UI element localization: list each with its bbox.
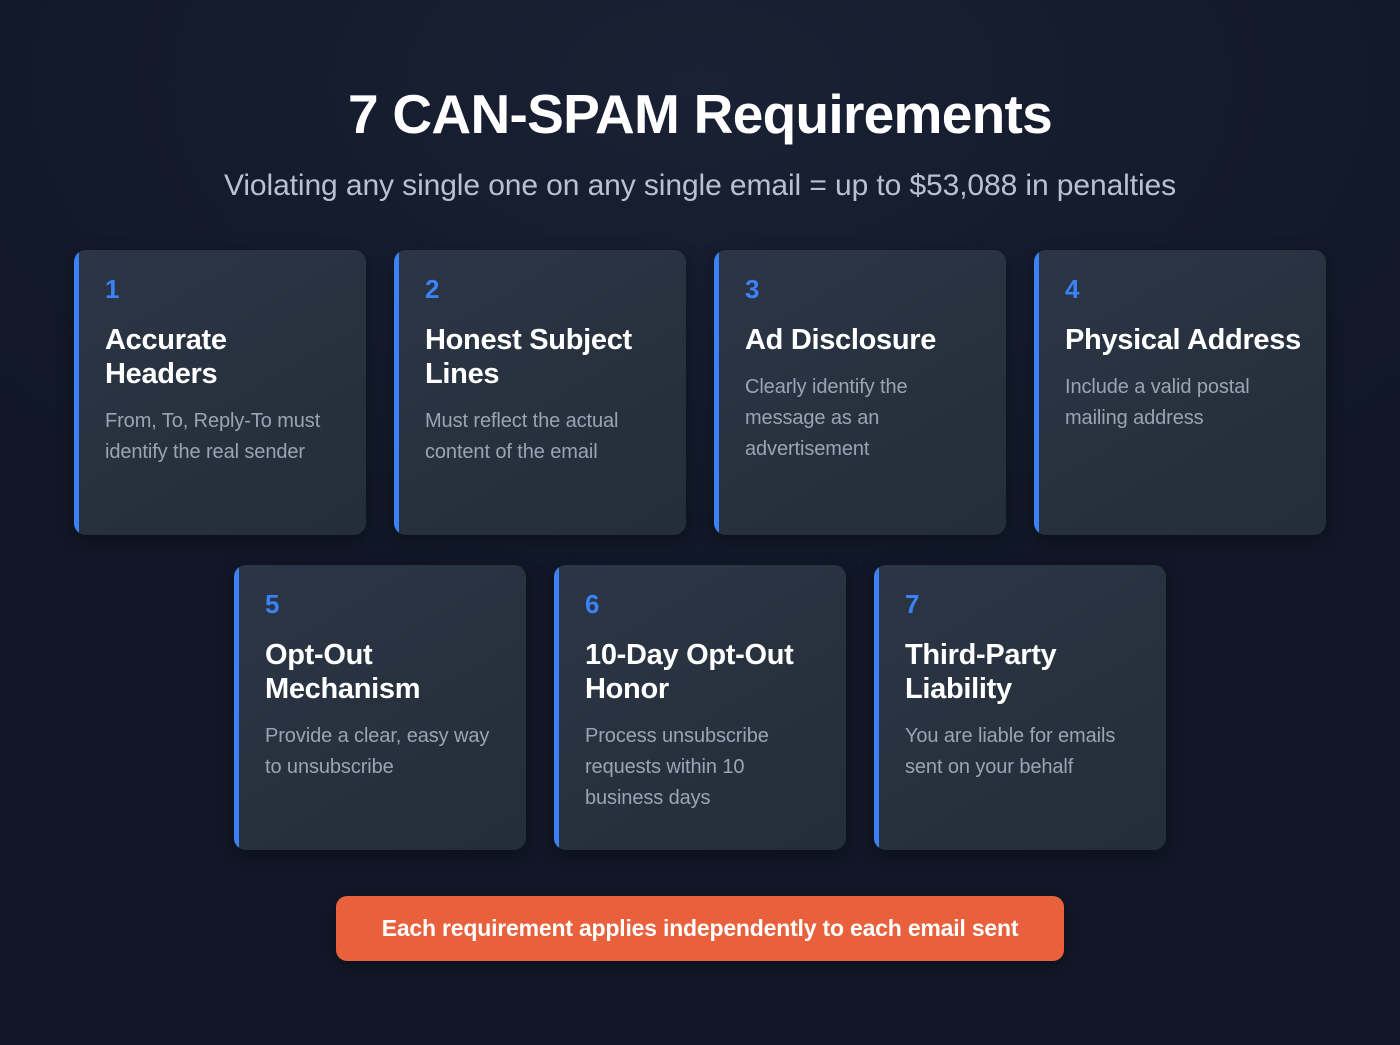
page-subtitle: Violating any single one on any single e… — [0, 168, 1400, 204]
requirement-description: Provide a clear, easy way to unsubscribe — [265, 721, 502, 783]
requirement-number: 4 — [1065, 276, 1302, 302]
requirement-description: Must reflect the actual content of the e… — [425, 406, 662, 468]
requirement-description: You are liable for emails sent on your b… — [905, 721, 1142, 783]
header: 7 CAN-SPAM Requirements Violating any si… — [0, 0, 1400, 204]
requirement-card-4: 4 Physical Address Include a valid posta… — [1034, 250, 1326, 535]
requirement-description: Process unsubscribe requests within 10 b… — [585, 721, 822, 814]
requirement-number: 2 — [425, 276, 662, 302]
summary-banner: Each requirement applies independently t… — [336, 896, 1065, 961]
requirement-description: From, To, Reply-To must identify the rea… — [105, 406, 342, 468]
requirement-card-5: 5 Opt-Out Mechanism Provide a clear, eas… — [234, 565, 526, 850]
requirement-number: 5 — [265, 591, 502, 617]
requirement-title: Opt-Out Mechanism — [265, 639, 502, 707]
requirement-card-1: 1 Accurate Headers From, To, Reply-To mu… — [74, 250, 366, 535]
requirement-title: Honest Subject Lines — [425, 324, 662, 392]
requirement-card-3: 3 Ad Disclosure Clearly identify the mes… — [714, 250, 1006, 535]
requirements-row-bottom: 5 Opt-Out Mechanism Provide a clear, eas… — [0, 565, 1400, 850]
requirement-number: 6 — [585, 591, 822, 617]
requirement-description: Clearly identify the message as an adver… — [745, 372, 982, 465]
requirement-number: 7 — [905, 591, 1142, 617]
requirement-card-6: 6 10-Day Opt-Out Honor Process unsubscri… — [554, 565, 846, 850]
infographic-page: 7 CAN-SPAM Requirements Violating any si… — [0, 0, 1400, 1045]
requirement-title: 10-Day Opt-Out Honor — [585, 639, 822, 707]
requirement-title: Third-Party Liability — [905, 639, 1142, 707]
footer: Each requirement applies independently t… — [0, 896, 1400, 961]
requirement-card-7: 7 Third-Party Liability You are liable f… — [874, 565, 1166, 850]
page-title: 7 CAN-SPAM Requirements — [0, 86, 1400, 144]
requirement-title: Physical Address — [1065, 324, 1302, 358]
requirement-title: Accurate Headers — [105, 324, 342, 392]
requirement-card-2: 2 Honest Subject Lines Must reflect the … — [394, 250, 686, 535]
requirement-number: 3 — [745, 276, 982, 302]
requirements-row-top: 1 Accurate Headers From, To, Reply-To mu… — [0, 250, 1400, 535]
requirement-title: Ad Disclosure — [745, 324, 982, 358]
requirement-description: Include a valid postal mailing address — [1065, 372, 1302, 434]
requirement-number: 1 — [105, 276, 342, 302]
